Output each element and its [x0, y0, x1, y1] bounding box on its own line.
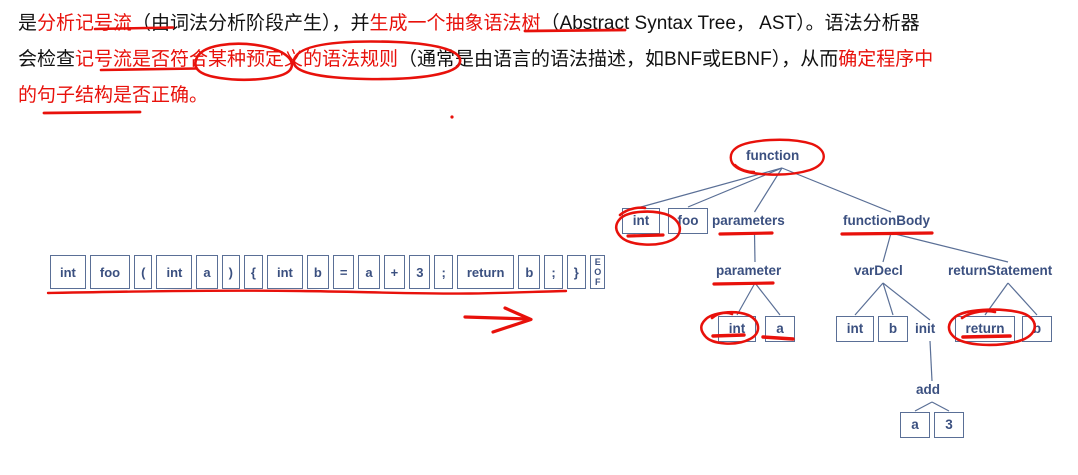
underline-token-stream — [48, 291, 566, 294]
ast-node-ret-b: b — [1022, 316, 1052, 342]
ast-edge-parameter-to-param-int — [737, 283, 755, 315]
ast-node-returnStatement: returnStatement — [948, 263, 1052, 278]
ast-edge-returnStatement-to-ret-b — [1008, 283, 1037, 315]
token-foo: foo — [90, 255, 130, 289]
ast-edge-varDecl-to-var-init — [883, 283, 930, 320]
ast-node-parameters: parameters — [712, 213, 785, 228]
ast-node-add-3: 3 — [934, 412, 964, 438]
token-sym: = — [333, 255, 355, 289]
paragraph-line-3: 的句子结构是否正确。 — [18, 78, 1068, 114]
ast-node-var-int: int — [836, 316, 874, 342]
text-run-highlight: 分析记号流 — [37, 13, 132, 34]
token-return: return — [457, 255, 515, 289]
screenshot-page: 是分析记号流（由词法分析阶段产生），并生成一个抽象语法树（Abstract Sy… — [0, 0, 1078, 475]
ast-edges — [600, 130, 1078, 475]
paragraph-line-1: 是分析记号流（由词法分析阶段产生），并生成一个抽象语法树（Abstract Sy… — [18, 6, 1068, 42]
ast-edge-varDecl-to-var-int — [855, 283, 883, 315]
token-sym: } — [567, 255, 586, 289]
token-sym: ; — [434, 255, 452, 289]
ast-edge-functionBody-to-varDecl — [883, 233, 891, 262]
ast-node-add: add — [916, 382, 940, 397]
token-b: b — [518, 255, 540, 289]
token-sym: ) — [222, 255, 240, 289]
token-sym: + — [384, 255, 406, 289]
arrow-right — [465, 317, 529, 319]
token-int: int — [50, 255, 86, 289]
text-run: 会检查 — [18, 49, 75, 70]
ast-node-functionBody: functionBody — [843, 213, 930, 228]
text-run: （由词法分析阶段产生），并 — [132, 13, 370, 34]
ast-edge-function-to-foo-name — [688, 168, 782, 207]
ast-node-function: function — [746, 148, 799, 163]
token-3: 3 — [409, 255, 430, 289]
ast-node-var-init: init — [915, 321, 935, 336]
token-a: a — [358, 255, 379, 289]
ast-edge-functionBody-to-returnStatement — [891, 233, 1008, 262]
ast-node-param-int: int — [718, 316, 756, 342]
ast-node-parameter: parameter — [716, 263, 781, 278]
dot-stray — [450, 115, 453, 118]
ast-node-ret-return: return — [955, 316, 1015, 342]
text-run: 是 — [18, 13, 37, 34]
token-sym: ( — [134, 255, 152, 289]
ast-node-foo-name: foo — [668, 208, 708, 234]
text-run: （通常是由语言的语法描述，如BNF或EBNF），从而 — [398, 49, 838, 70]
token-int: int — [156, 255, 192, 289]
token-int: int — [267, 255, 303, 289]
token-b: b — [307, 255, 329, 289]
ast-edge-returnStatement-to-ret-return — [985, 283, 1008, 315]
text-run: （Abstract Syntax Tree， AST）。语法分析器 — [541, 13, 920, 34]
token-a: a — [196, 255, 217, 289]
arrow-right-head — [493, 308, 531, 332]
token-sym: { — [244, 255, 263, 289]
ast-edge-parameters-to-parameter — [755, 233, 756, 262]
ast-node-int-type: int — [622, 208, 660, 234]
paragraph-line-2: 会检查记号流是否符合某种预定义的语法规则（通常是由语言的语法描述，如BNF或EB… — [18, 42, 1068, 78]
ast-edge-parameter-to-param-a — [755, 283, 780, 315]
ast-node-param-a: a — [765, 316, 795, 342]
ast-edge-var-init-to-add — [930, 341, 932, 381]
token-sym: ; — [544, 255, 562, 289]
text-run-highlight: 记号流是否符合某种预定义的语法规则 — [75, 49, 398, 70]
ast-node-varDecl: varDecl — [854, 263, 903, 278]
ast-node-add-a: a — [900, 412, 930, 438]
explanatory-paragraph: 是分析记号流（由词法分析阶段产生），并生成一个抽象语法树（Abstract Sy… — [18, 6, 1068, 114]
ast-edge-function-to-functionBody — [782, 168, 891, 212]
text-run-highlight: 生成一个抽象语法树 — [370, 13, 541, 34]
token-stream: intfoo(inta){intb=a+3;returnb;}EOF — [50, 255, 605, 289]
text-run-highlight: 的句子结构是否正确。 — [18, 85, 208, 106]
ast-edge-add-to-add-a — [915, 402, 932, 411]
ast-edge-varDecl-to-var-b — [883, 283, 893, 315]
ast-node-var-b: b — [878, 316, 908, 342]
text-run-highlight: 确定程序中 — [838, 49, 933, 70]
ast-edge-add-to-add-3 — [932, 402, 949, 411]
abstract-syntax-tree: functionintfooparametersfunctionBodypara… — [600, 130, 1078, 475]
